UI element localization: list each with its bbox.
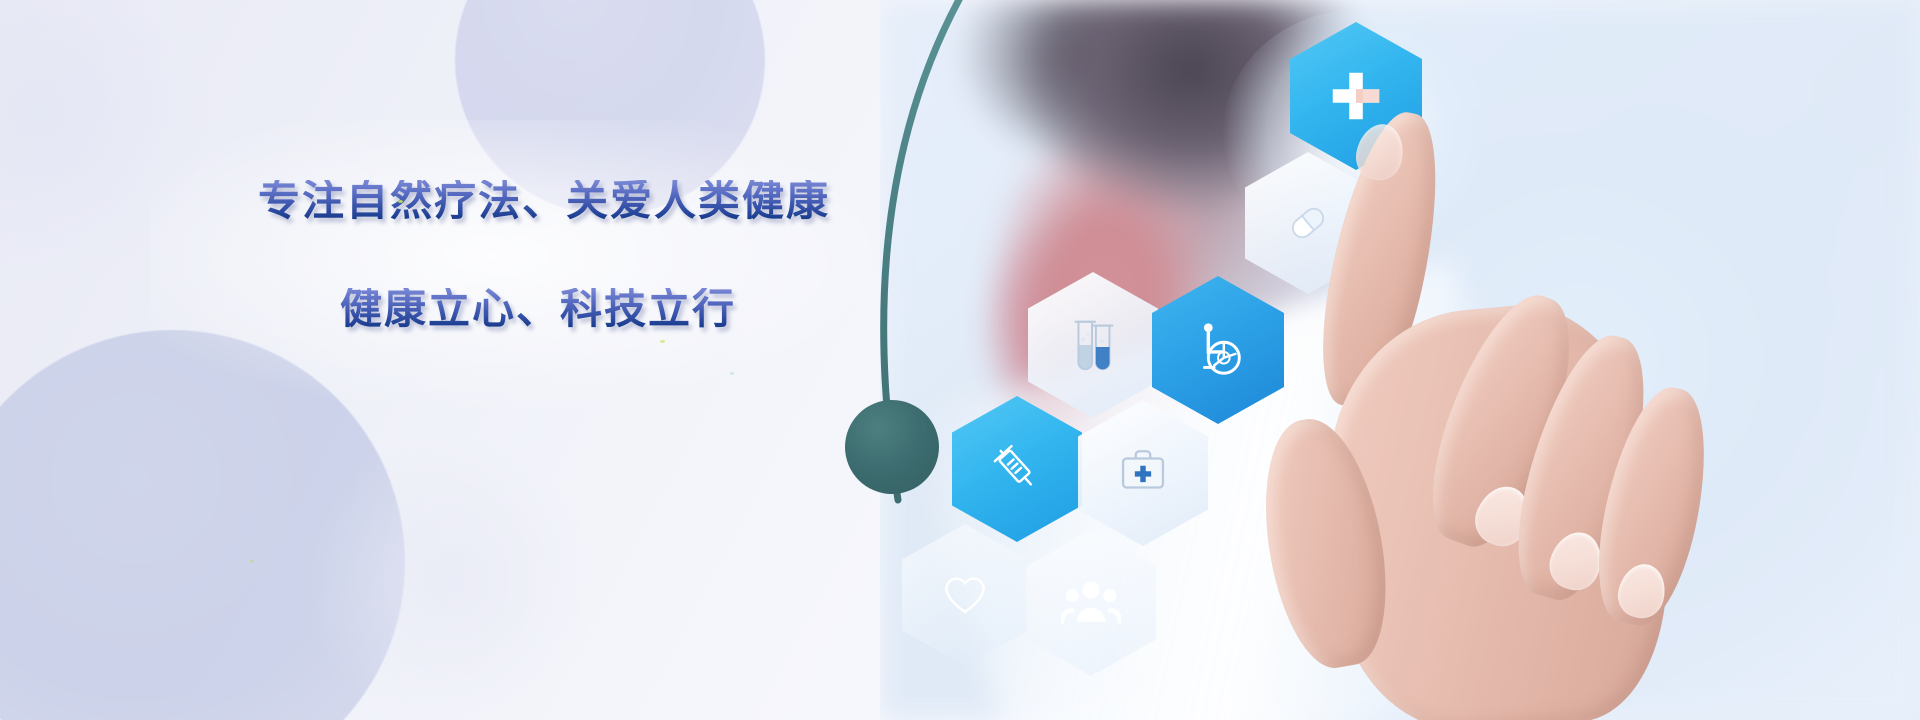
sparkle-dot bbox=[660, 340, 665, 343]
background-glow-left bbox=[0, 0, 210, 280]
background-glow-middle bbox=[300, 430, 600, 720]
capsule-pill-icon bbox=[1278, 193, 1338, 253]
wheelchair-icon bbox=[1187, 319, 1249, 381]
medical-cross-icon bbox=[1325, 65, 1387, 127]
sparkle-dot bbox=[398, 200, 403, 203]
healthcare-hero-banner: 专注自然疗法、关爱人类健康 健康立心、科技立行 bbox=[0, 0, 1920, 720]
people-group-icon bbox=[1061, 576, 1121, 630]
headline-line-1: 专注自然疗法、关爱人类健康 bbox=[258, 180, 898, 222]
first-aid-kit-icon bbox=[1114, 444, 1172, 502]
test-tubes-icon bbox=[1064, 314, 1122, 376]
headline-line-2: 健康立心、科技立行 bbox=[340, 288, 898, 330]
syringe-icon bbox=[987, 439, 1047, 499]
teal-circle-knob bbox=[845, 400, 939, 494]
heart-pulse-icon bbox=[938, 568, 992, 622]
sparkle-dot bbox=[250, 560, 254, 563]
headline-block: 专注自然疗法、关爱人类健康 健康立心、科技立行 bbox=[258, 180, 898, 330]
decorative-circle-bottom bbox=[0, 330, 405, 720]
sparkle-dot bbox=[730, 372, 734, 375]
